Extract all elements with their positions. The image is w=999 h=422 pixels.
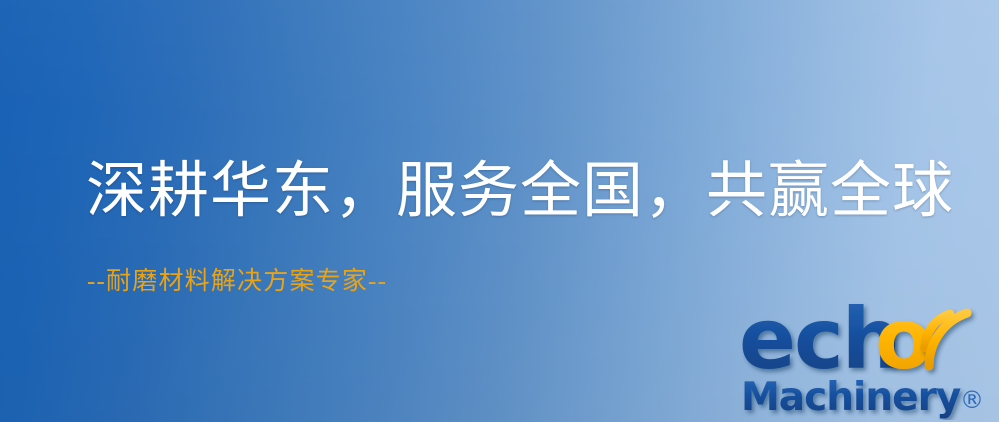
page-title: 深耕华东，服务全国，共赢全球: [86, 156, 954, 228]
logo-tagline: Machinery: [741, 375, 961, 420]
signal-arcs-icon: [925, 313, 967, 366]
hero-banner: 深耕华东，服务全国，共赢全球 --耐磨材料解决方案专家--: [0, 0, 999, 422]
page-subtitle: --耐磨材料解决方案专家--: [87, 266, 387, 298]
company-logo[interactable]: ech o Machinery ®: [739, 292, 991, 420]
registered-trademark-icon: ®: [960, 386, 984, 414]
logo-tagline-text: Machinery: [741, 375, 961, 420]
